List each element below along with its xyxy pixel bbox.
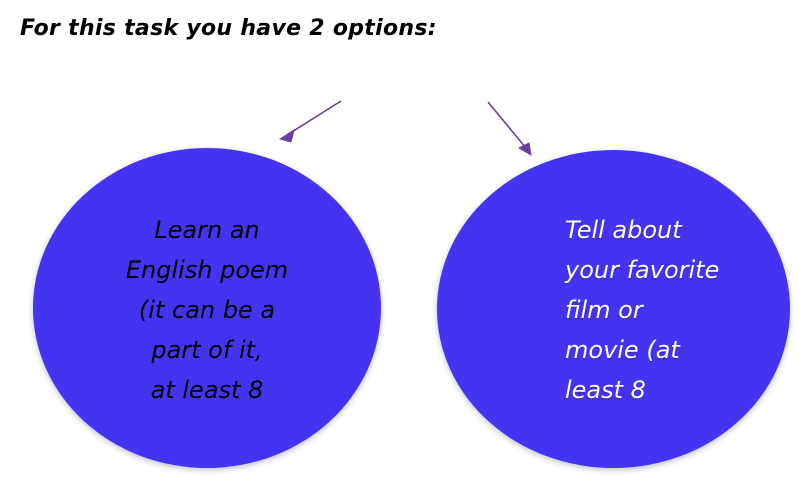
option-left-text: Learn an English poem (it can be a part … bbox=[53, 210, 361, 410]
arrow-left-icon bbox=[280, 101, 341, 142]
option-circle-right[interactable]: Tell about your favorite film or movie (… bbox=[437, 150, 790, 468]
page-title: For this task you have 2 options: bbox=[20, 14, 437, 44]
slide-canvas: For this task you have 2 options: Learn … bbox=[0, 0, 799, 485]
option-right-text: Tell about your favorite film or movie (… bbox=[565, 210, 780, 410]
arrow-right-icon bbox=[488, 102, 531, 155]
option-circle-left[interactable]: Learn an English poem (it can be a part … bbox=[33, 148, 381, 468]
